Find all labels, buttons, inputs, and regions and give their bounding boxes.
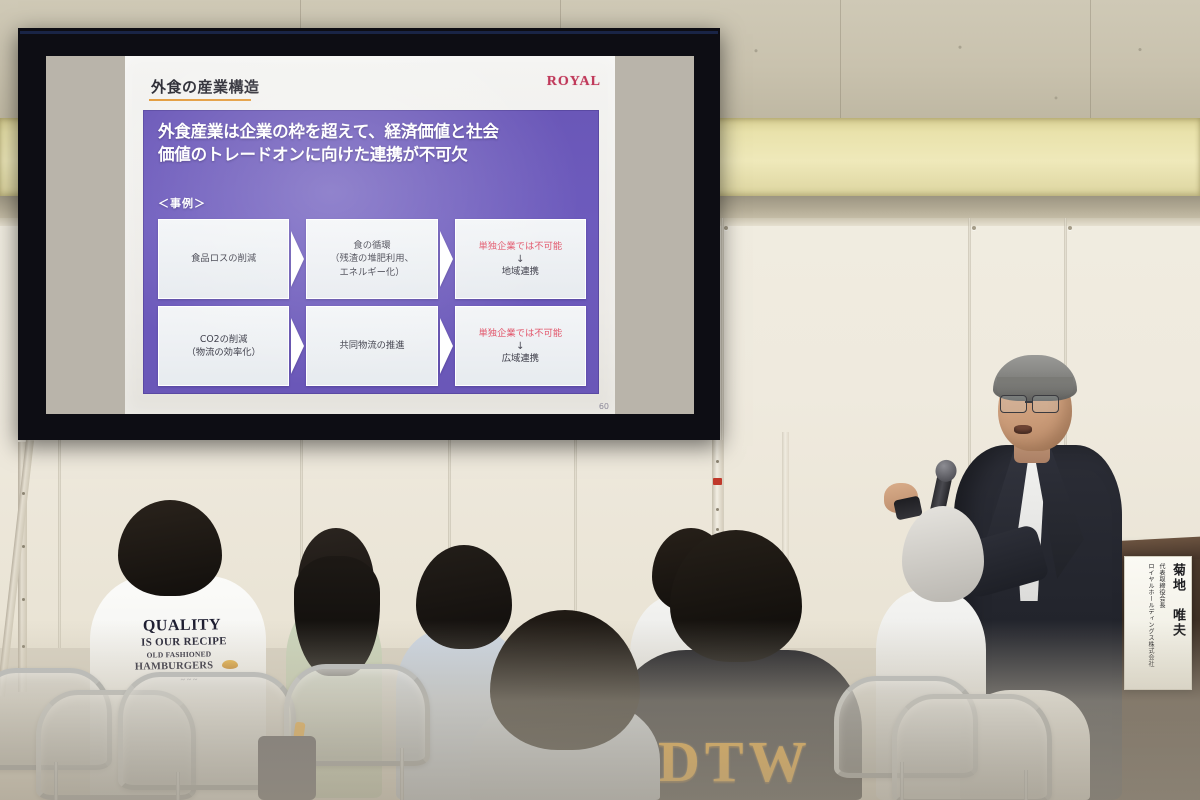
glasses-bridge-icon xyxy=(1025,401,1032,403)
slide-title: 外食の産業構造 xyxy=(151,76,260,97)
chevron-arrow-icon xyxy=(440,231,453,287)
flow-box-step2: 食の循環 （残渣の堆肥利用、 エネルギー化） xyxy=(306,219,437,299)
slide-page-number: 60 xyxy=(599,402,609,411)
speaker-mouth xyxy=(1014,425,1032,434)
floor-shadow xyxy=(0,620,1200,800)
flow-text: エネルギー化） xyxy=(339,266,404,279)
flow-row: CO2の削減 （物流の効率化） 共同物流の推進 単独企業では不可能 ↓ xyxy=(158,306,586,386)
down-arrow-icon: ↓ xyxy=(516,254,524,265)
screen-stand-marker xyxy=(713,478,722,485)
chevron-arrow-icon xyxy=(291,231,304,287)
flow-box-step3: 単独企業では不可能 ↓ 地域連携 xyxy=(455,219,586,299)
slide-headline-line-1: 外食産業は企業の枠を超えて、経済価値と社会 xyxy=(158,121,586,144)
slide-purple-panel: 外食産業は企業の枠を超えて、経済価値と社会 価値のトレードオンに向けた連携が不可… xyxy=(143,110,599,394)
flow-result-text: 地域連携 xyxy=(502,265,539,278)
screen-stand-pole-far-right xyxy=(782,432,789,572)
examples-label: ＜事例＞ xyxy=(158,195,206,211)
slide-headline: 外食産業は企業の枠を超えて、経済価値と社会 価値のトレードオンに向けた連携が不可… xyxy=(158,121,586,167)
flow-box-step2: 共同物流の推進 xyxy=(306,306,437,386)
flow-text: （物流の効率化） xyxy=(186,346,260,359)
slide-header: 外食の産業構造 ROYAL xyxy=(125,70,615,110)
flow-text: 食品ロスの削減 xyxy=(191,252,256,265)
flow-box-step1: CO2の削減 （物流の効率化） xyxy=(158,306,289,386)
flow-alert-text: 単独企業では不可能 xyxy=(478,327,562,340)
flow-text: 共同物流の推進 xyxy=(339,339,404,352)
presentation-scene: 外食の産業構造 ROYAL 外食産業は企業の枠を超えて、経済価値と社会 価値のト… xyxy=(0,0,1200,800)
flow-box-step3: 単独企業では不可能 ↓ 広域連携 xyxy=(455,306,586,386)
flow-box-step1: 食品ロスの削減 xyxy=(158,219,289,299)
projection-screen-surface: 外食の産業構造 ROYAL 外食産業は企業の枠を超えて、経済価値と社会 価値のト… xyxy=(46,56,694,414)
presentation-slide: 外食の産業構造 ROYAL 外食産業は企業の枠を超えて、経済価値と社会 価値のト… xyxy=(125,56,615,414)
slide-title-underline xyxy=(149,99,251,101)
flow-alert-text: 単独企業では不可能 xyxy=(478,240,562,253)
flow-text: （残渣の堆肥利用、 xyxy=(330,252,414,265)
projection-screen-frame: 外食の産業構造 ROYAL 外食産業は企業の枠を超えて、経済価値と社会 価値のト… xyxy=(18,28,720,440)
chevron-arrow-icon xyxy=(291,318,304,374)
down-arrow-icon: ↓ xyxy=(516,341,524,352)
slide-headline-line-2: 価値のトレードオンに向けた連携が不可欠 xyxy=(158,144,586,167)
royal-logo: ROYAL xyxy=(547,74,601,90)
flow-text: CO2の削減 xyxy=(200,333,248,346)
flow-diagram: 食品ロスの削減 食の循環 （残渣の堆肥利用、 エネルギー化） 単独企業では不可能 xyxy=(158,219,586,393)
glasses-lens-right-icon xyxy=(1032,395,1059,413)
flow-text: 食の循環 xyxy=(353,239,390,252)
glasses-lens-left-icon xyxy=(1000,395,1027,413)
flow-result-text: 広域連携 xyxy=(502,352,539,365)
chevron-arrow-icon xyxy=(440,318,453,374)
flow-row: 食品ロスの削減 食の循環 （残渣の堆肥利用、 エネルギー化） 単独企業では不可能 xyxy=(158,219,586,299)
